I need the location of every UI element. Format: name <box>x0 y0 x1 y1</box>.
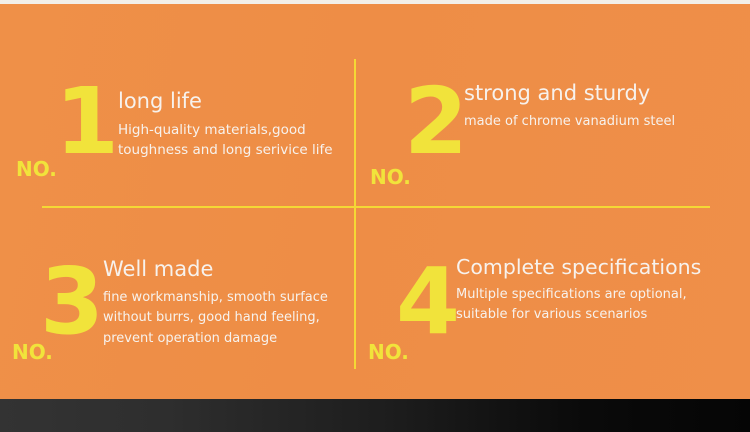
feature-4-heading: Complete specifications <box>456 256 746 279</box>
feature-3-text: Well made fine workmanship, smooth surfa… <box>103 258 358 349</box>
feature-4-number: 4 <box>396 256 458 348</box>
feature-2-number: 2 <box>404 76 466 168</box>
feature-3-description: fine workmanship, smooth surface without… <box>103 288 358 350</box>
feature-1-description: High-quality materials,good toughness an… <box>118 120 354 161</box>
feature-1-no-label: NO. <box>16 159 57 179</box>
feature-cell-3: NO. 3 Well made fine workmanship, smooth… <box>0 238 354 378</box>
feature-1-text: long life High-quality materials,good to… <box>118 90 354 161</box>
feature-cell-2: NO. 2 strong and sturdy made of chrome v… <box>356 64 750 204</box>
feature-3-description-line-1: fine workmanship, smooth surface <box>103 288 358 309</box>
feature-2-description-line-1: made of chrome vanadium steel <box>464 112 750 132</box>
feature-cell-1: NO. 1 long life High-quality materials,g… <box>0 64 354 204</box>
footer-band <box>0 399 750 432</box>
feature-2-heading: strong and sturdy <box>464 82 750 106</box>
feature-3-heading: Well made <box>103 258 358 282</box>
feature-1-heading: long life <box>118 90 354 114</box>
feature-1-description-line-2: toughness and long serivice life <box>118 140 354 161</box>
feature-4-text: Complete specifications Multiple specifi… <box>456 256 746 325</box>
feature-1-number: 1 <box>55 76 117 168</box>
feature-2-text: strong and sturdy made of chrome vanadiu… <box>464 82 750 131</box>
feature-3-description-line-2: without burrs, good hand feeling, <box>103 308 358 329</box>
feature-2-description: made of chrome vanadium steel <box>464 112 750 132</box>
feature-3-description-line-3: prevent operation damage <box>103 329 358 350</box>
feature-4-description-line-2: suitable for various scenarios <box>456 305 746 325</box>
orange-panel: NO. 1 long life High-quality materials,g… <box>0 4 750 399</box>
feature-4-description: Multiple specifications are optional, su… <box>456 285 746 325</box>
feature-3-number: 3 <box>40 256 102 348</box>
feature-banner: NO. 1 long life High-quality materials,g… <box>0 0 750 432</box>
feature-1-description-line-1: High-quality materials,good <box>118 120 354 141</box>
horizontal-divider <box>42 206 710 208</box>
feature-cell-4: NO. 4 Complete specifications Multiple s… <box>356 238 750 378</box>
feature-4-description-line-1: Multiple specifications are optional, <box>456 285 746 305</box>
